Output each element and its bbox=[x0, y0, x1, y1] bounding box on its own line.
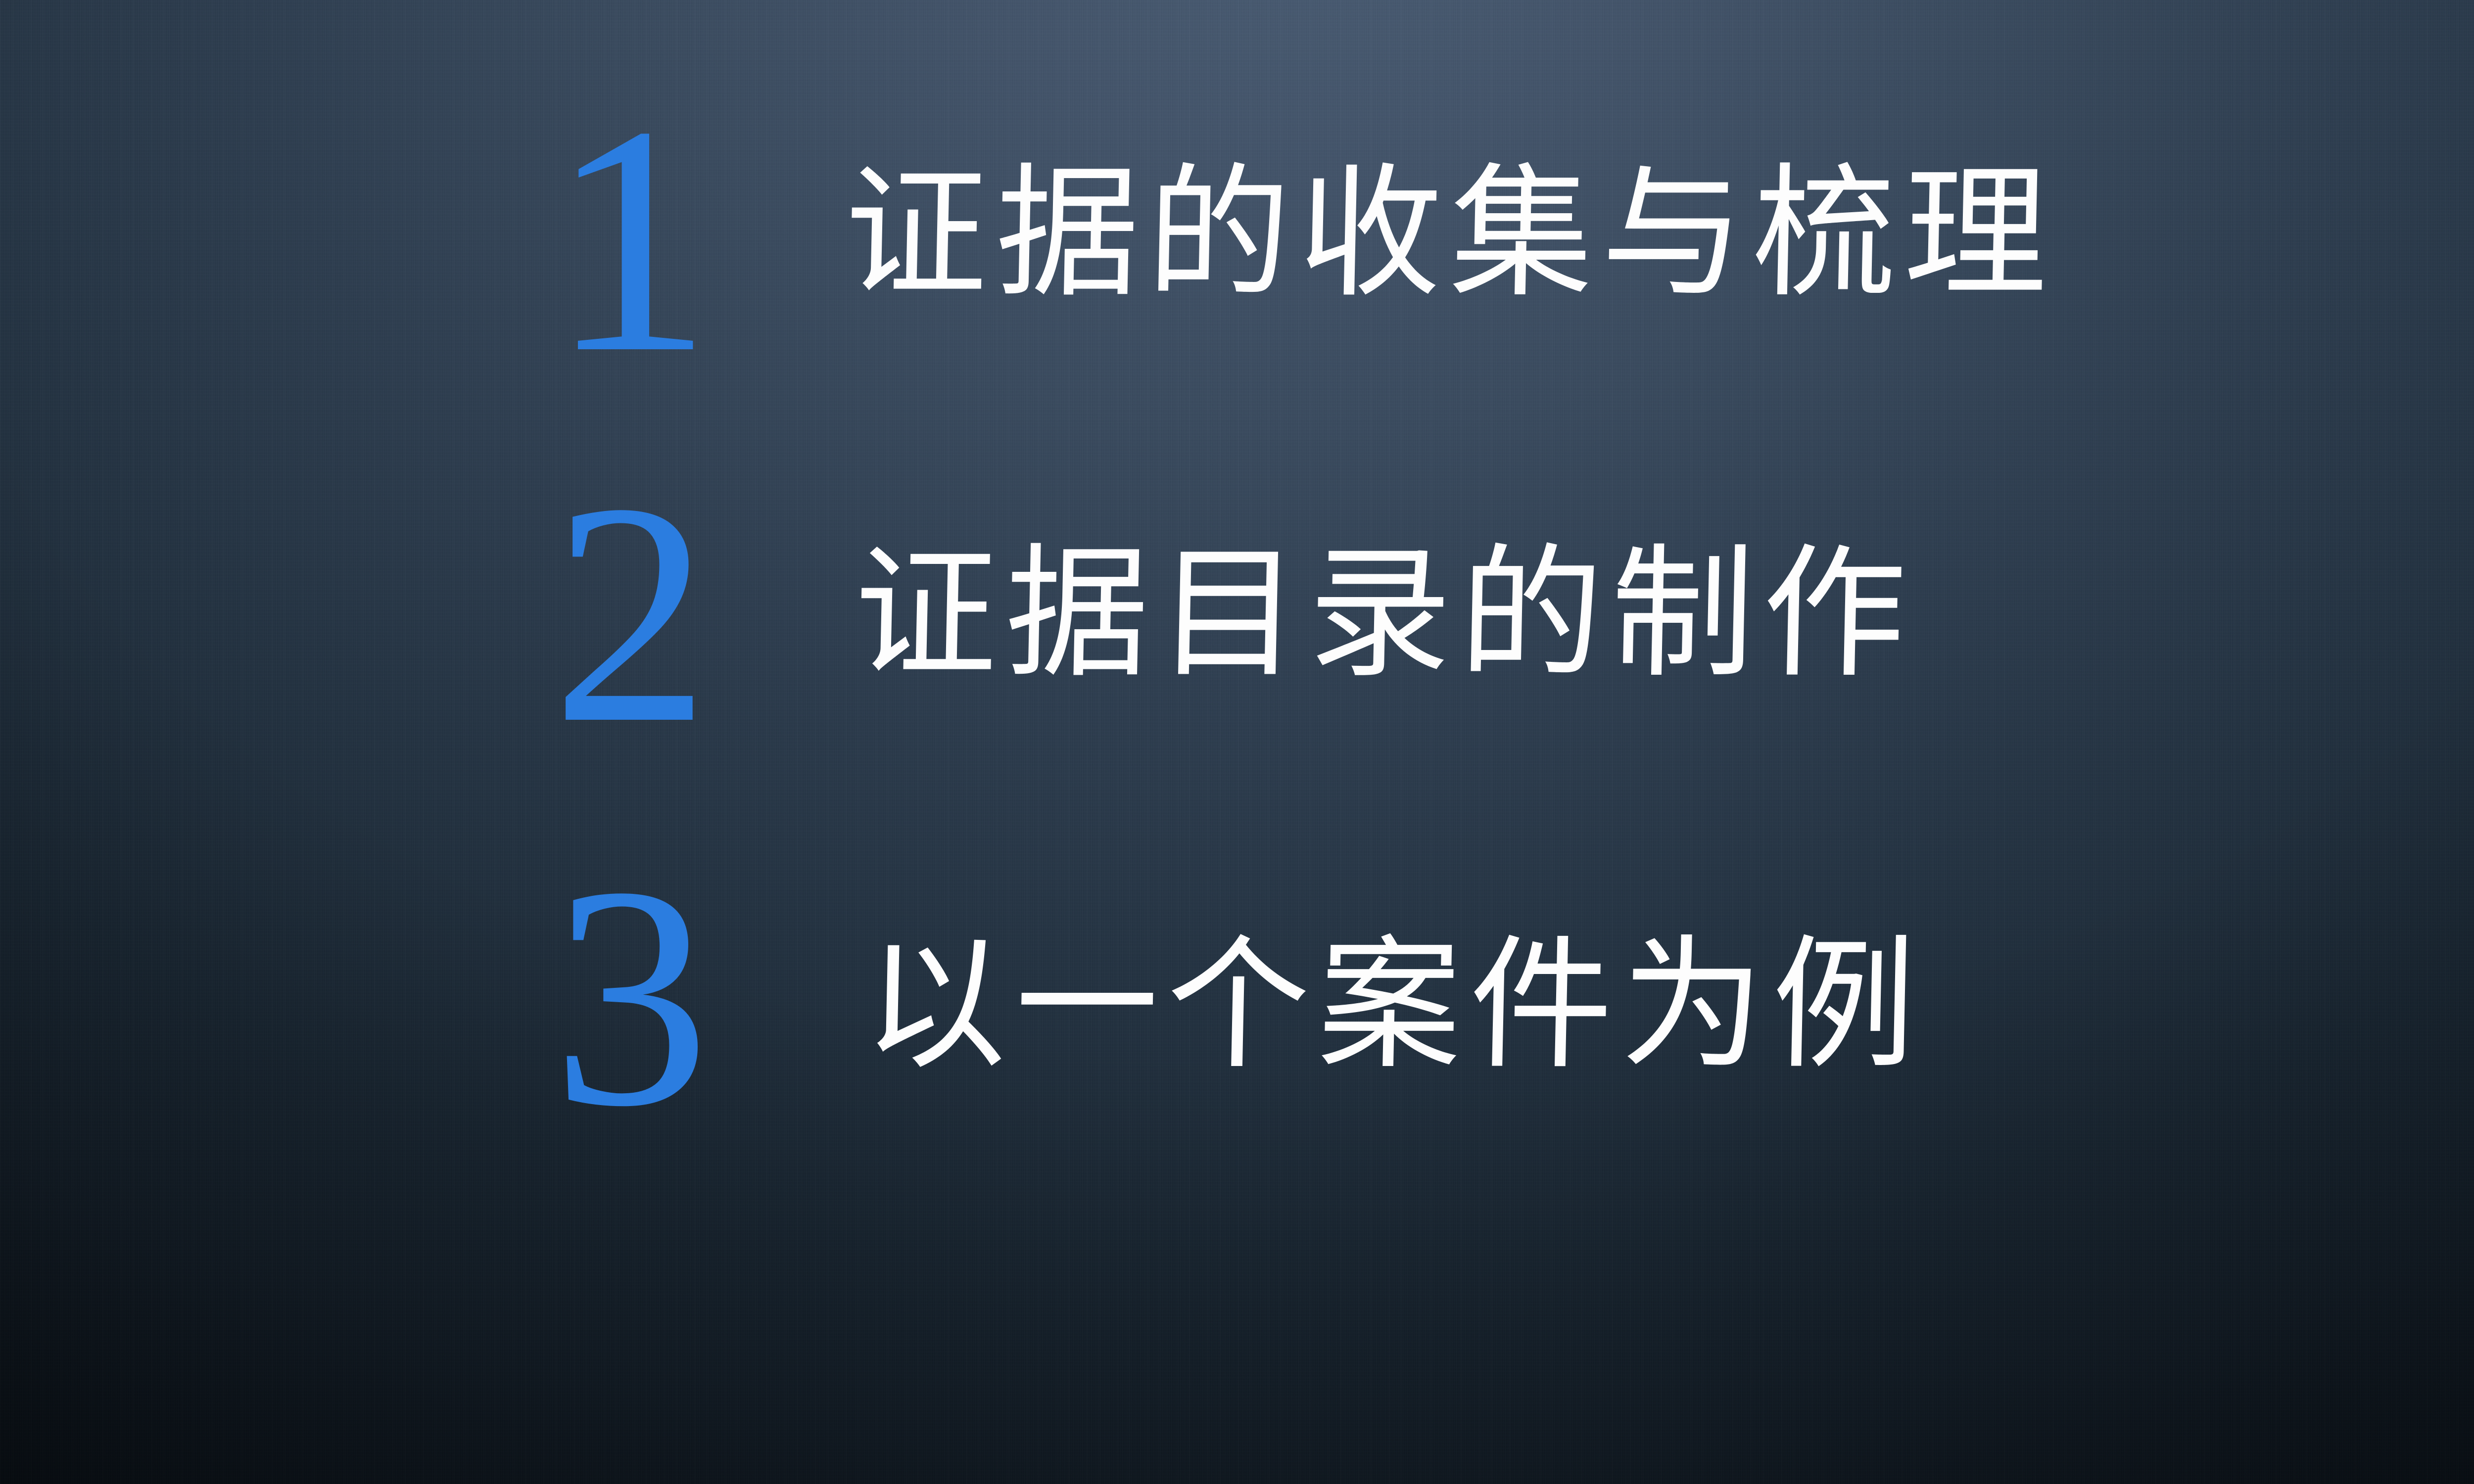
agenda-item-3-number: 3 bbox=[524, 861, 737, 1133]
agenda-item-1-number: 1 bbox=[524, 99, 737, 380]
agenda-item-2-number: 2 bbox=[524, 477, 737, 749]
agenda-item-3: 3 以一个案件为例 bbox=[524, 861, 1921, 1133]
agenda-list: 1 证据的收集与梳理 2 证据目录的制作 3 以一个案件为例 bbox=[0, 0, 2474, 1484]
agenda-item-3-label: 以一个案件为例 bbox=[861, 934, 1925, 1133]
presentation-slide: 1 证据的收集与梳理 2 证据目录的制作 3 以一个案件为例 bbox=[0, 0, 2474, 1484]
agenda-item-1: 1 证据的收集与梳理 bbox=[524, 99, 2052, 380]
agenda-item-1-label: 证据的收集与梳理 bbox=[841, 162, 2057, 380]
agenda-item-2-label: 证据目录的制作 bbox=[851, 543, 1915, 749]
agenda-item-2: 2 证据目录的制作 bbox=[524, 477, 1911, 749]
